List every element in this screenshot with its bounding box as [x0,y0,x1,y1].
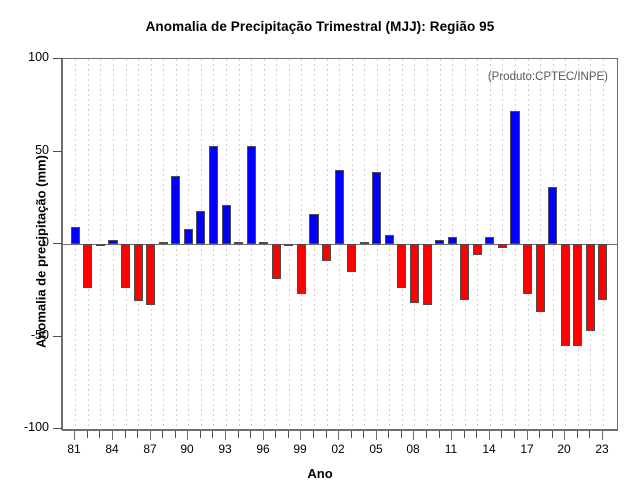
x-tick [150,431,151,440]
x-tick [275,431,276,438]
x-tick [426,431,427,438]
x-tick [162,431,163,438]
x-tick [527,431,528,440]
x-tick-label: 08 [398,442,428,456]
x-tick-label: 96 [248,442,278,456]
x-tick [539,431,540,438]
y-tick [53,428,62,429]
x-tick-label: 20 [549,442,579,456]
x-tick [564,431,565,440]
x-tick [326,431,327,438]
x-tick [99,431,100,438]
bar [297,244,306,294]
x-tick [288,431,289,438]
x-tick [464,431,465,438]
x-tick [300,431,301,440]
bar [561,244,570,346]
x-tick-label: 17 [512,442,542,456]
y-tick-label: 50 [35,143,49,157]
bar [222,205,231,244]
bar [96,244,105,246]
bar [83,244,92,288]
bar [71,227,80,244]
bar [586,244,595,331]
bar [284,244,293,246]
x-tick [137,431,138,438]
plot-area: (Produto:CPTEC/INPE) [62,58,618,430]
bar [573,244,582,346]
x-tick [602,431,603,440]
x-tick [263,431,264,440]
bar [159,242,168,244]
bar [460,244,469,300]
bar [410,244,419,303]
bar [598,244,607,300]
chart-root: Anomalia de Precipitação Trimestral (MJJ… [0,0,640,500]
bar [510,111,519,244]
x-axis-label: Ano [0,466,640,481]
bar [259,242,268,244]
x-tick-label: 23 [587,442,617,456]
x-tick [401,431,402,438]
x-tick [413,431,414,440]
bar [309,214,318,244]
bar [184,229,193,244]
bar [397,244,406,288]
x-tick-label: 99 [285,442,315,456]
bar [485,237,494,244]
y-tick [53,243,62,244]
x-tick-label: 14 [474,442,504,456]
bar [196,211,205,244]
bar [108,240,117,244]
x-tick [552,431,553,438]
bar [121,244,130,288]
x-tick [376,431,377,440]
bar [548,187,557,244]
bar [234,242,243,244]
x-tick-label: 93 [210,442,240,456]
bar [335,170,344,244]
x-tick [589,431,590,438]
x-tick-label: 11 [436,442,466,456]
bar [247,146,256,244]
x-tick [87,431,88,438]
bar [473,244,482,255]
y-tick [53,336,62,337]
x-tick [125,431,126,438]
bar [435,240,444,244]
x-tick [200,431,201,438]
chart-title: Anomalia de Precipitação Trimestral (MJJ… [0,19,640,34]
bar [372,172,381,244]
bar [272,244,281,279]
x-tick [363,431,364,438]
x-tick [489,431,490,440]
bar [536,244,545,312]
bar [171,176,180,244]
bar [134,244,143,301]
y-tick-label: 100 [28,50,49,64]
bar [423,244,432,305]
x-tick [238,431,239,438]
x-tick [74,431,75,440]
x-tick [501,431,502,438]
bar [322,244,331,261]
x-tick-label: 05 [361,442,391,456]
x-tick [451,431,452,440]
x-tick-label: 84 [97,442,127,456]
bar-series [63,59,617,429]
y-tick-label: -50 [31,328,49,342]
y-tick [53,151,62,152]
x-tick-label: 87 [135,442,165,456]
x-tick [476,431,477,438]
x-tick-label: 90 [172,442,202,456]
bar [146,244,155,305]
x-tick [514,431,515,438]
x-tick [351,431,352,438]
y-tick-label: -100 [24,420,49,434]
bar [347,244,356,272]
x-axis-line [62,430,618,431]
x-tick-label: 02 [323,442,353,456]
x-tick [313,431,314,438]
bar [385,235,394,244]
x-tick-label: 81 [59,442,89,456]
x-tick [250,431,251,438]
y-tick-label: 0 [42,235,49,249]
x-tick [175,431,176,438]
produto-annotation: (Produto:CPTEC/INPE) [488,71,608,83]
x-tick [577,431,578,438]
bar [209,146,218,244]
x-tick [338,431,339,440]
y-tick [53,58,62,59]
bar [498,244,507,248]
x-tick [187,431,188,440]
x-tick [212,431,213,438]
x-tick [388,431,389,438]
x-tick [112,431,113,440]
bar [360,242,369,244]
x-tick [439,431,440,438]
x-tick [225,431,226,440]
bar [523,244,532,294]
bar [448,237,457,244]
